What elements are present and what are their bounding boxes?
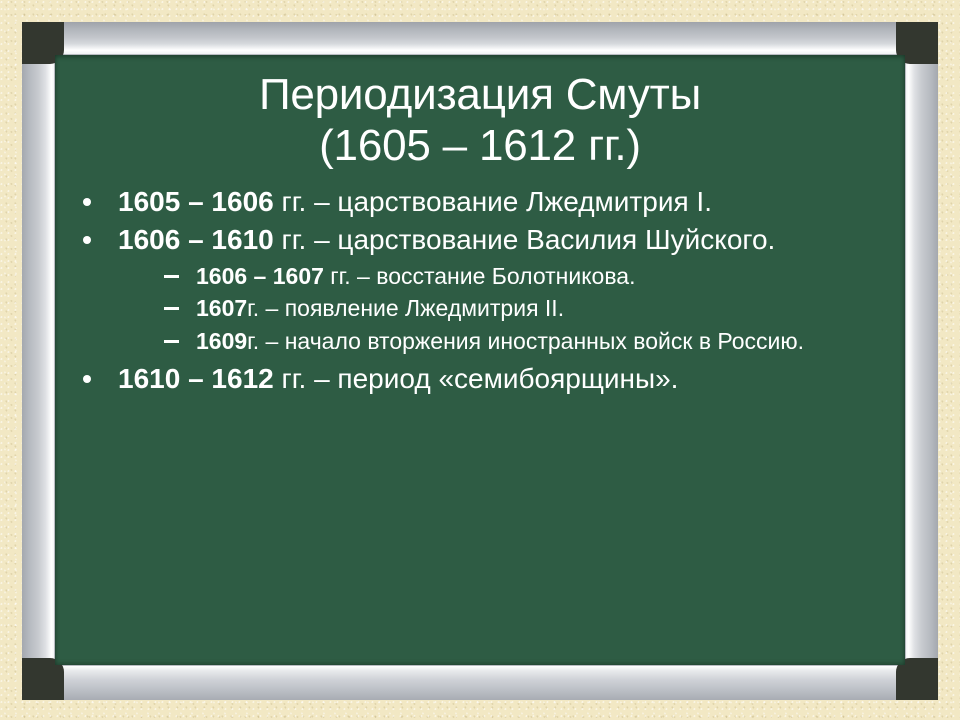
list-item-years: 1605 – 1606 <box>118 186 274 217</box>
list-item-text: гг. – период «семибоярщины». <box>274 363 679 394</box>
sub-item-years: 1609 <box>196 328 247 354</box>
chalkboard: Периодизация Смуты (1605 – 1612 гг.) 160… <box>22 22 938 700</box>
list-item: 1605 – 1606 гг. – царствование Лжедмитри… <box>70 183 895 220</box>
frame-bottom-rail <box>22 666 938 700</box>
page-title-line-1: Периодизация Смуты <box>79 69 881 120</box>
page-title: Периодизация Смуты (1605 – 1612 гг.) <box>55 55 905 171</box>
list-item: 1606 – 1607 гг. – восстание Болотникова. <box>158 261 895 293</box>
sub-item-text: г. – появление Лжедмитрия II. <box>247 295 564 321</box>
list-item: 1609г. – начало вторжения иностранных во… <box>158 326 895 358</box>
list-item-years: 1606 – 1610 <box>118 224 274 255</box>
sub-item-years: 1607 <box>196 295 247 321</box>
bullet-dash-icon <box>164 340 179 343</box>
bullet-dot-icon <box>83 236 91 244</box>
sub-item-years: 1606 – 1607 <box>196 263 324 289</box>
frame-right-rail <box>906 22 938 700</box>
frame-left-rail <box>22 22 54 700</box>
sub-item-text: гг. – восстание Болотникова. <box>324 263 636 289</box>
list-item-text: гг. – царствование Василия Шуйского. <box>274 224 776 255</box>
list-item-text: гг. – царствование Лжедмитрия I. <box>274 186 712 217</box>
board-surface: Периодизация Смуты (1605 – 1612 гг.) 160… <box>55 55 905 665</box>
bullet-dot-icon <box>83 375 91 383</box>
list-item: 1607г. – появление Лжедмитрия II. <box>158 293 895 325</box>
list-item: 1606 – 1610 гг. – царствование Василия Ш… <box>70 221 895 357</box>
bullet-dash-icon <box>164 275 179 278</box>
bullet-dot-icon <box>83 198 91 206</box>
bullet-dash-icon <box>164 307 179 310</box>
sub-list: 1606 – 1607 гг. – восстание Болотникова.… <box>118 261 895 358</box>
frame-top-rail <box>22 22 938 54</box>
list-item-years: 1610 – 1612 <box>118 363 274 394</box>
list-item: 1610 – 1612 гг. – период «семибоярщины». <box>70 360 895 397</box>
page-title-line-2: (1605 – 1612 гг.) <box>79 120 881 171</box>
periodization-list: 1605 – 1606 гг. – царствование Лжедмитри… <box>55 183 905 397</box>
sub-item-text: г. – начало вторжения иностранных войск … <box>247 328 804 354</box>
